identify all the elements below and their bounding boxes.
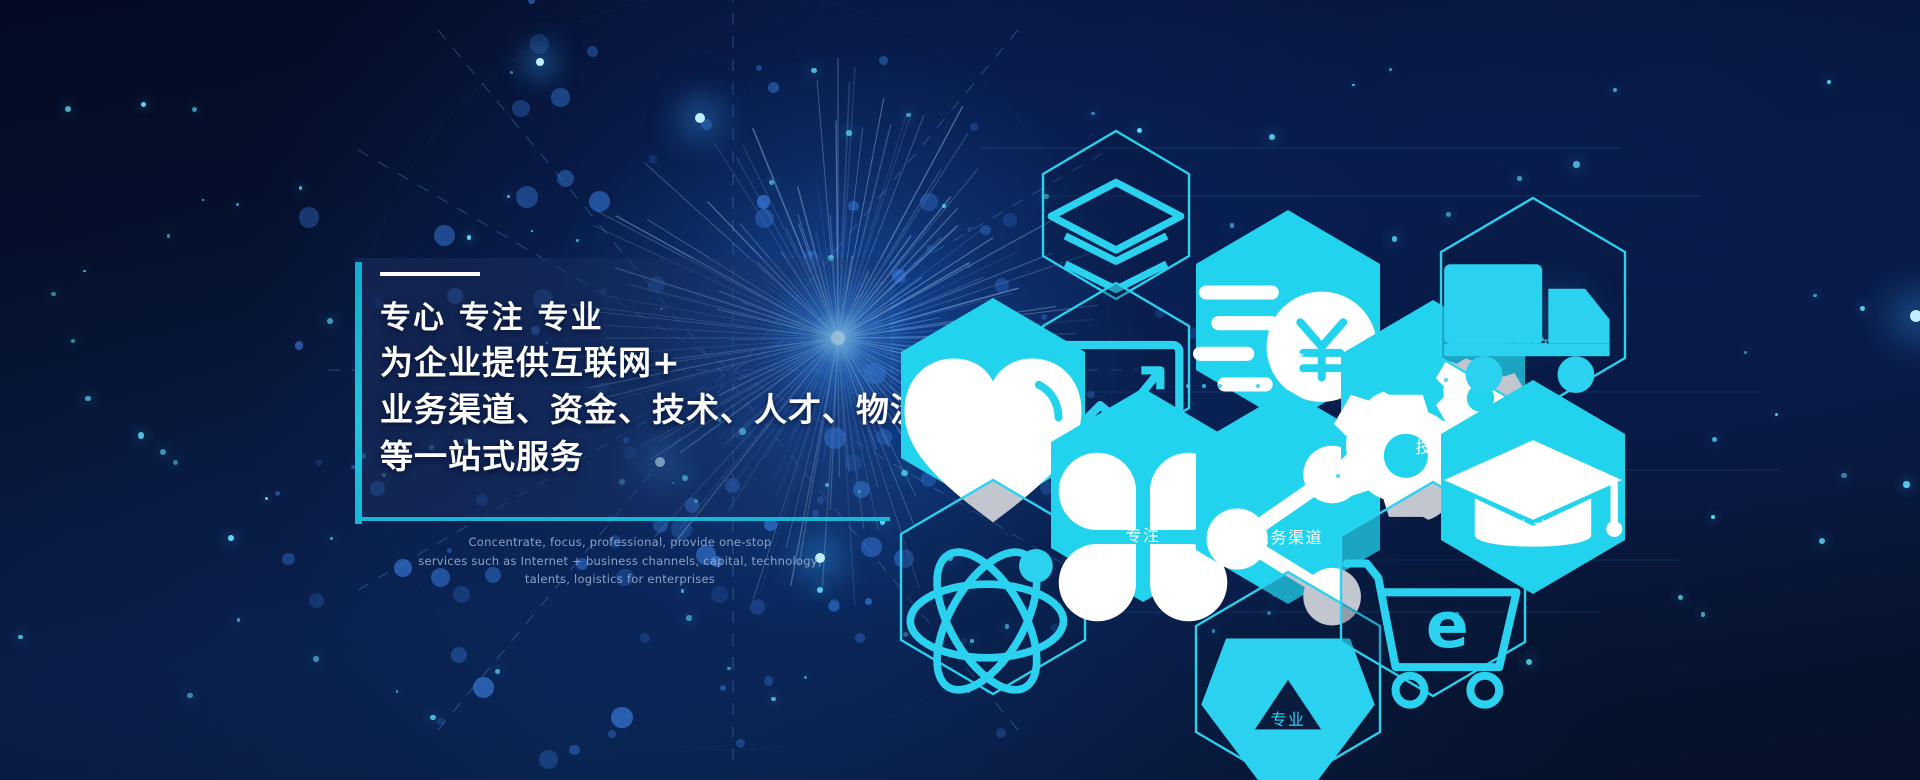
banner-stage: 专心 专注 专业 为企业提供互联网+ 业务渠道、资金、技术、人才、物流 等一站式… xyxy=(0,0,1920,780)
svg-text:e: e xyxy=(1426,588,1469,662)
graduation-cap-icon xyxy=(1438,434,1628,587)
hex-label-rencai: 人才 xyxy=(1438,514,1628,538)
hex-layers[interactable] xyxy=(1040,128,1192,302)
hex-rencai[interactable]: 人才 xyxy=(1438,378,1628,596)
hexagon-cluster: 专心 xyxy=(0,0,1920,780)
hex-label-wuliu: 物流 xyxy=(1438,332,1628,356)
